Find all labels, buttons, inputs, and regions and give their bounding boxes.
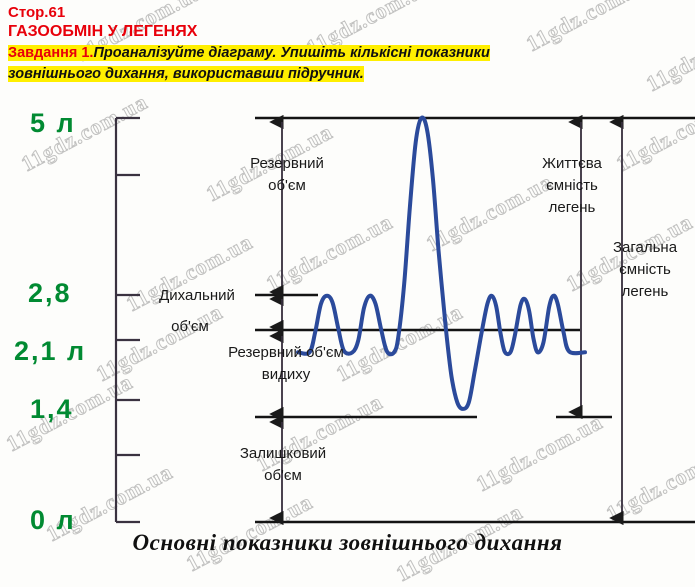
label-total-capacity-2: ємність xyxy=(619,261,671,278)
answer-total-capacity: 5 л xyxy=(30,108,76,139)
page-number-label: Стор.61 xyxy=(8,4,688,22)
figure-caption: Основні показники зовнішнього дихання xyxy=(0,530,695,556)
label-reserve-volume-2: об'єм xyxy=(268,177,306,194)
task-text-line2: зовнішнього дихання, використавши підруч… xyxy=(8,66,364,82)
label-vital-capacity-1: Життєва xyxy=(542,155,602,172)
capacity-text-labels: Життєва ємність легень Загальна ємність … xyxy=(542,155,678,300)
label-exp-reserve-1: Резервний об'єм xyxy=(228,344,344,361)
label-vital-capacity-3: легень xyxy=(549,199,596,216)
task-text-line1: Проаналізуйте діаграму. Упишіть кількісн… xyxy=(93,45,489,61)
answer-tidal-top: 2,8 xyxy=(28,278,72,309)
task-label: Завдання 1. xyxy=(8,45,93,61)
label-reserve-volume-1: Резервний xyxy=(250,155,324,172)
answer-residual-top: 1,4 xyxy=(30,394,74,425)
label-exp-reserve-2: видиху xyxy=(262,366,311,383)
label-residual-volume-1: Залишковий xyxy=(240,445,326,462)
label-tidal-volume-1: Дихальний xyxy=(159,287,235,304)
label-vital-capacity-2: ємність xyxy=(546,177,598,194)
label-tidal-volume-2: об'єм xyxy=(171,318,209,335)
y-axis xyxy=(116,118,140,522)
answer-tidal-baseline: 2,1 л xyxy=(14,336,86,367)
page-header: Стор.61 ГАЗООБМІН У ЛЕГЕНЯХ Завдання 1.П… xyxy=(8,4,688,85)
spirogram-diagram: Резервний об'єм Дихальний об'єм Резервни… xyxy=(0,104,695,576)
topic-title: ГАЗООБМІН У ЛЕГЕНЯХ xyxy=(8,22,688,42)
label-total-capacity-3: легень xyxy=(622,283,669,300)
task-block: Завдання 1.Проаналізуйте діаграму. Упиші… xyxy=(8,43,688,85)
label-residual-volume-2: об'єм xyxy=(264,467,302,484)
label-total-capacity-1: Загальна xyxy=(613,239,678,256)
